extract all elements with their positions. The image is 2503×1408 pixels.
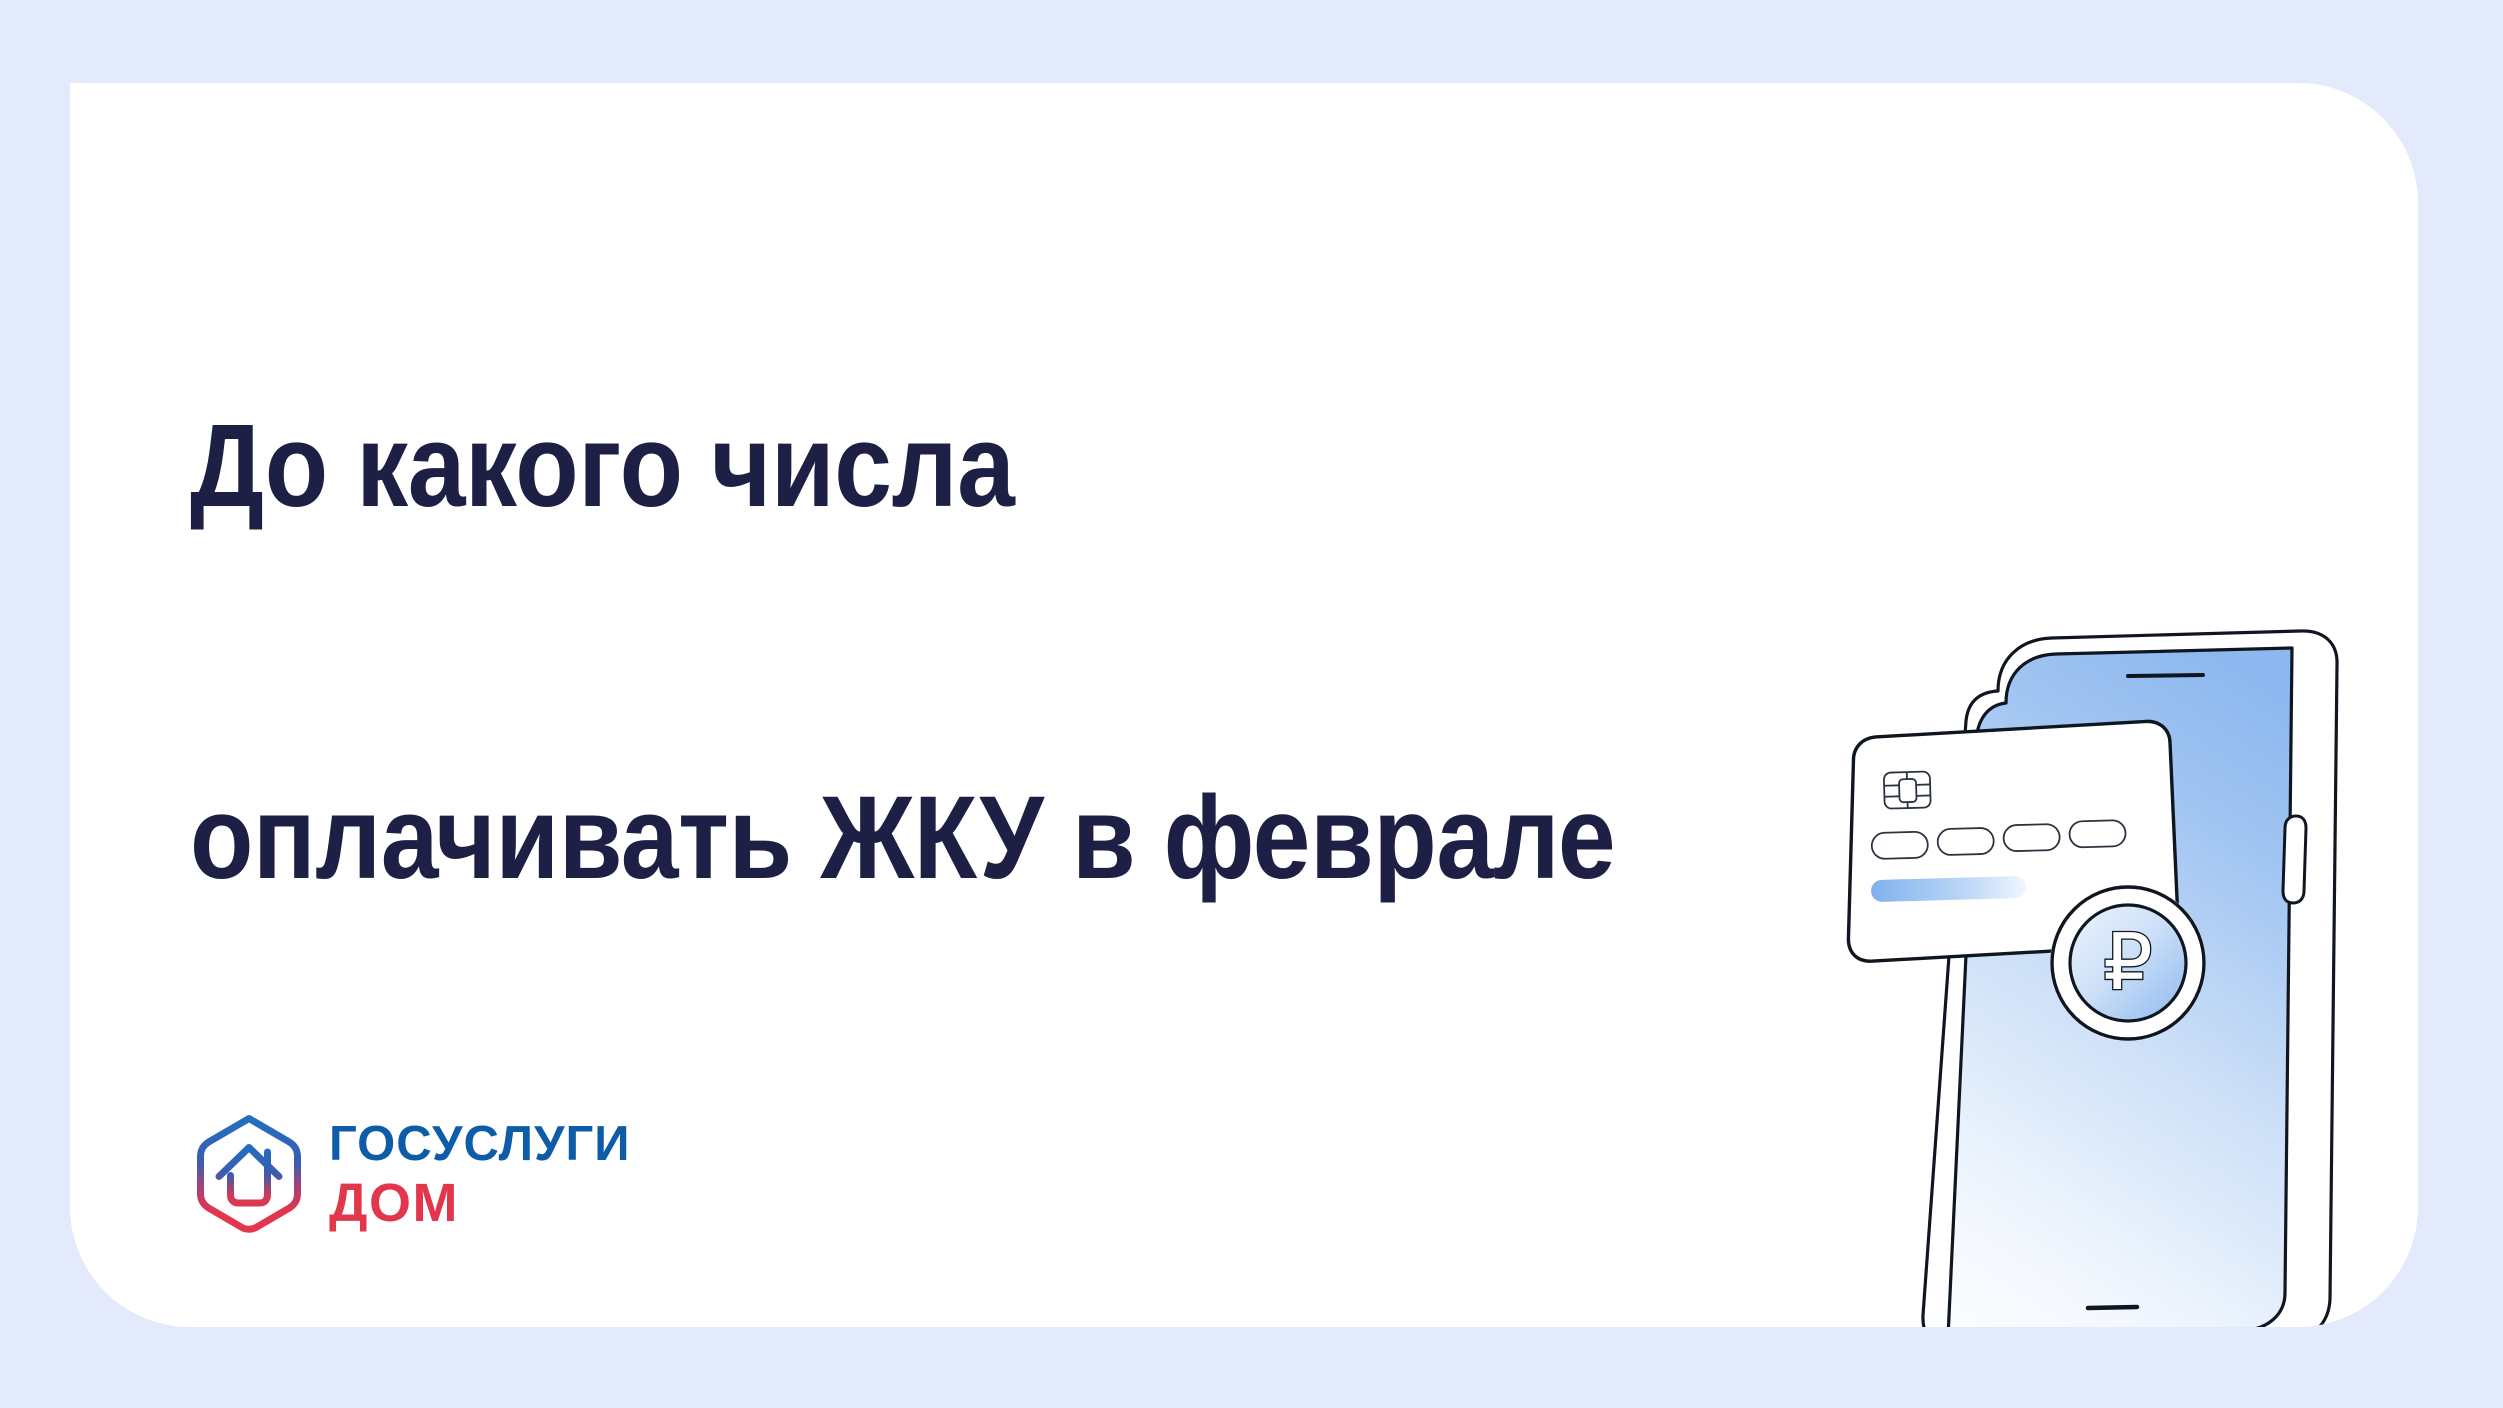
brand-logo-word-bottom: ДОМ <box>329 1176 631 1230</box>
page-title: До какого числа оплачивать ЖКУ в феврале <box>190 171 1774 1151</box>
page-title-line-1: До какого числа <box>190 407 1774 525</box>
card-stripe <box>1871 876 2027 902</box>
brand-logo-wordmark: ГОСУСЛУГИ ДОМ <box>329 1120 631 1230</box>
gosuslugi-dom-house-hexagon-icon <box>195 1113 303 1237</box>
brand-logo[interactable]: ГОСУСЛУГИ ДОМ <box>195 1113 631 1237</box>
ruble-symbol: ₽ <box>2103 918 2153 1006</box>
phone-home-indicator <box>2088 1307 2137 1308</box>
page-title-line-2: оплачивать ЖКУ в феврале <box>190 779 1774 897</box>
phone-side-button <box>2283 816 2306 903</box>
poster-canvas: До какого числа оплачивать ЖКУ в феврале <box>0 0 2503 1408</box>
white-content-panel: До какого числа оплачивать ЖКУ в феврале <box>70 83 2418 1327</box>
phone-earpiece-speaker <box>2128 675 2203 676</box>
brand-logo-word-top: ГОСУСЛУГИ <box>329 1120 631 1169</box>
ruble-coin: ₽ <box>2050 885 2206 1041</box>
phone-card-coin-illustration: ₽ <box>1830 593 2418 1327</box>
